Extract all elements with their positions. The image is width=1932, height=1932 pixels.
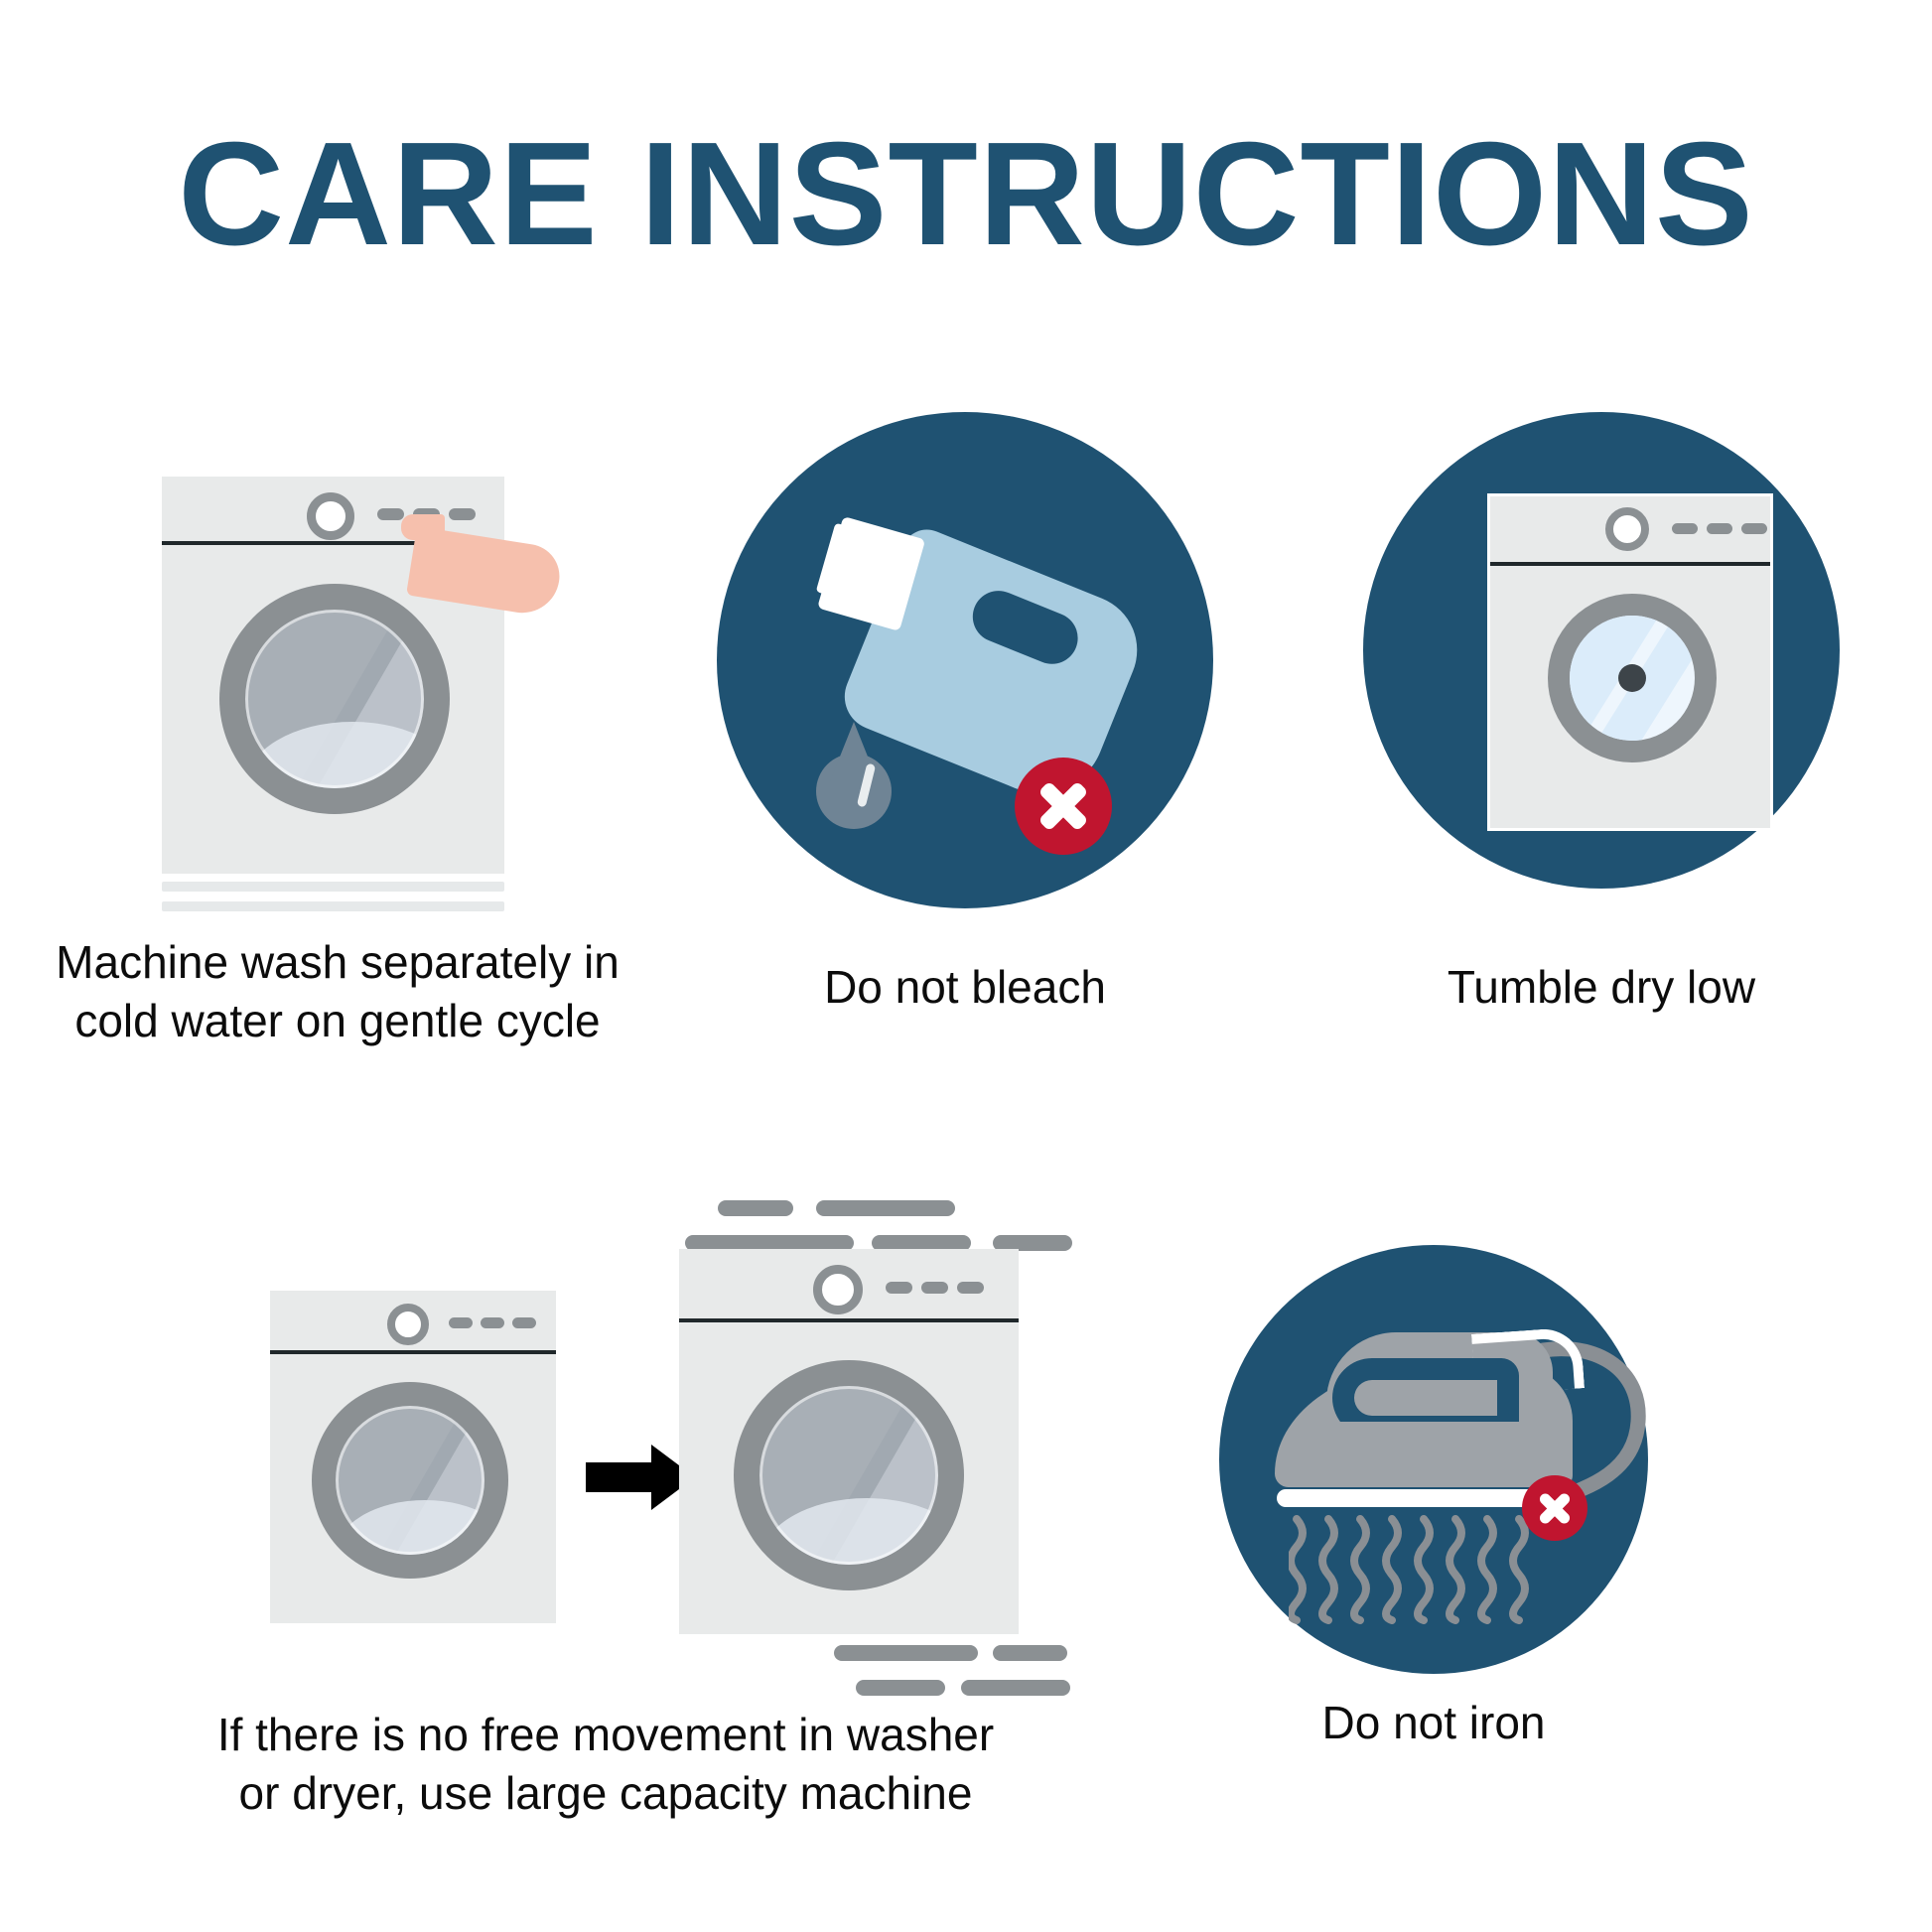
caption-line-2: cold water on gentle cycle xyxy=(10,992,665,1050)
prohibition-x-badge xyxy=(1522,1475,1587,1541)
machine-door-glass xyxy=(759,1386,938,1565)
machine-buttons xyxy=(449,1317,536,1328)
machine-button xyxy=(377,508,404,520)
dryer-body xyxy=(1487,493,1773,831)
motion-line xyxy=(718,1200,793,1216)
bleach-drop-icon xyxy=(816,722,892,829)
machine-button xyxy=(449,1317,473,1328)
machine-knob-icon xyxy=(307,492,354,540)
dryer-center-dot-icon xyxy=(1618,664,1646,692)
caption-large-capacity-machine: If there is no free movement in washer o… xyxy=(139,1706,1072,1823)
caption-line-1: Tumble dry low xyxy=(1363,958,1840,1017)
iron-body xyxy=(1275,1332,1573,1487)
dryer-button xyxy=(1672,523,1698,534)
tumble-dryer-icon xyxy=(1363,412,1840,889)
machine-button xyxy=(957,1282,984,1294)
small-washer-icon xyxy=(270,1291,556,1623)
machine-button xyxy=(481,1317,504,1328)
machine-panel-divider xyxy=(270,1350,556,1354)
machine-door-glass xyxy=(245,610,424,788)
caption-tumble-dry-low: Tumble dry low xyxy=(1363,958,1840,1017)
dryer-button xyxy=(1707,523,1732,534)
machine-panel-divider xyxy=(679,1318,1019,1322)
machine-knob-icon xyxy=(387,1304,429,1345)
steam-iron-icon xyxy=(1219,1245,1648,1674)
machine-button xyxy=(886,1282,912,1294)
motion-line xyxy=(961,1680,1070,1696)
caption-do-not-iron: Do not iron xyxy=(1219,1694,1648,1752)
machine-button xyxy=(512,1317,536,1328)
caption-line-1: Do not bleach xyxy=(717,958,1213,1017)
caption-do-not-bleach: Do not bleach xyxy=(717,958,1213,1017)
page-title: CARE INSTRUCTIONS xyxy=(0,121,1932,268)
machine-button xyxy=(921,1282,948,1294)
dryer-buttons xyxy=(1672,523,1767,534)
bleach-bottle-icon xyxy=(717,412,1213,908)
caption-line-1: Do not iron xyxy=(1219,1694,1648,1752)
machine-floor-line xyxy=(162,882,504,892)
machine-buttons xyxy=(886,1282,984,1294)
motion-line xyxy=(816,1200,955,1216)
caption-line-2: or dryer, use large capacity machine xyxy=(139,1764,1072,1823)
dryer-knob-icon xyxy=(1605,507,1649,551)
dryer-button xyxy=(1741,523,1767,534)
machine-floor-line xyxy=(162,901,504,911)
machine-door-glass xyxy=(336,1406,484,1555)
large-washer-icon xyxy=(679,1249,1019,1634)
motion-line xyxy=(993,1645,1067,1661)
dryer-panel-divider xyxy=(1490,562,1770,566)
motion-line xyxy=(834,1645,978,1661)
prohibition-x-badge xyxy=(1015,758,1112,855)
caption-line-1: If there is no free movement in washer xyxy=(139,1706,1072,1764)
caption-machine-wash: Machine wash separately in cold water on… xyxy=(10,933,665,1050)
machine-button xyxy=(449,508,476,520)
steam-lines-icon xyxy=(1289,1515,1547,1624)
motion-line xyxy=(856,1680,945,1696)
machine-knob-icon xyxy=(813,1265,863,1314)
caption-line-1: Machine wash separately in xyxy=(10,933,665,992)
care-instructions-infographic: CARE INSTRUCTIONS xyxy=(0,0,1932,1932)
